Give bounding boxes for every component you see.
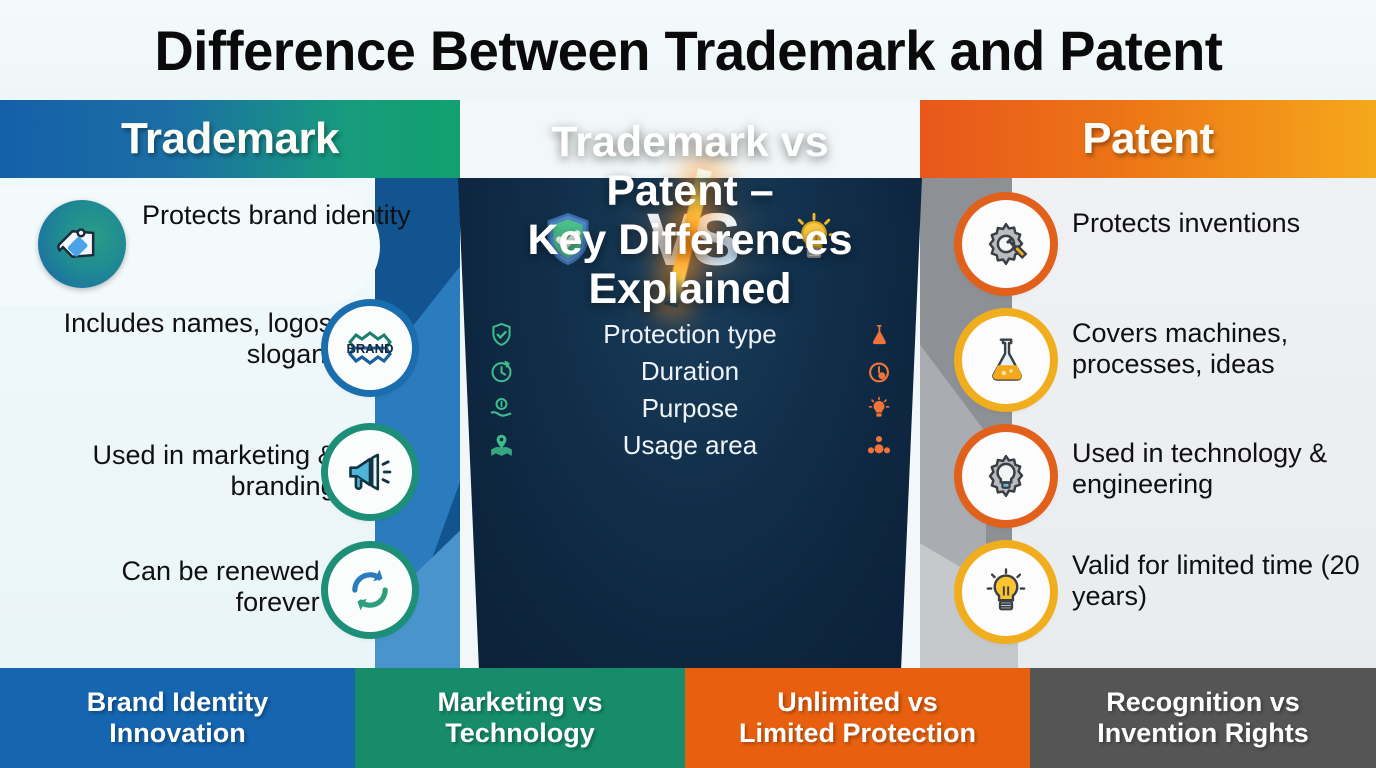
refresh-cycle-icon — [328, 548, 412, 632]
trademark-item-3-label: Used in marketing & branding — [34, 440, 336, 503]
trademark-item-4-label: Can be renewed forever — [34, 556, 320, 619]
center-title-line-3: Key Differences — [470, 216, 910, 265]
trademark-item-2-label: Includes names, logos, slogans — [34, 308, 340, 371]
patent-item-3-label: Used in technology & engineering — [1072, 438, 1372, 501]
gear-bulb-icon — [962, 432, 1050, 520]
brand-badge-icon: BRAND — [328, 306, 412, 390]
stopwatch-icon — [852, 359, 906, 385]
patent-item-4: Valid for limited time (20 years) — [1072, 550, 1372, 613]
footer-cell-brand-identity: Brand Identity Innovation — [0, 668, 355, 768]
patent-item-4-label: Valid for limited time (20 years) — [1072, 550, 1372, 613]
bulb-idea-icon — [852, 396, 906, 422]
gear-wrench-icon — [962, 200, 1050, 288]
hand-idea-icon — [474, 395, 528, 422]
footer-cell-1-line-1: Brand Identity — [87, 687, 269, 718]
patent-item-3: Used in technology & engineering — [1072, 438, 1372, 501]
trademark-item-1-label: Protects brand identity — [142, 200, 411, 231]
center-title-line-1: Trademark vs — [470, 118, 910, 167]
footer-cell-3-line-2: Limited Protection — [739, 718, 976, 749]
criteria-label-1: Protection type — [528, 319, 852, 350]
map-pin-icon — [474, 432, 528, 459]
trademark-panel: Protects brand identity Includes names, … — [0, 178, 460, 668]
column-header-trademark: Trademark — [0, 100, 460, 178]
criteria-label-2: Duration — [528, 356, 852, 387]
title-bar: Difference Between Trademark and Patent — [0, 0, 1376, 100]
criteria-row-protection-type: Protection type — [474, 316, 906, 353]
team-network-icon — [852, 433, 906, 459]
footer-cell-3-line-1: Unlimited vs — [739, 687, 976, 718]
footer-cell-2-line-2: Technology — [437, 718, 602, 749]
center-title-line-2: Patent – — [470, 167, 910, 216]
flask-icon — [852, 322, 906, 348]
footer-cell-4-line-1: Recognition vs — [1097, 687, 1309, 718]
column-header-patent: Patent — [920, 100, 1376, 178]
footer-cell-1-line-2: Innovation — [87, 718, 269, 749]
criteria-row-duration: Duration — [474, 353, 906, 390]
clock-icon — [474, 358, 528, 385]
criteria-row-purpose: Purpose — [474, 390, 906, 427]
shield-check-icon — [474, 321, 528, 348]
megaphone-icon — [328, 430, 412, 514]
svg-text:BRAND: BRAND — [347, 341, 394, 356]
footer-cell-recognition-invention: Recognition vs Invention Rights — [1030, 668, 1376, 768]
footer-cell-marketing-technology: Marketing vs Technology — [355, 668, 685, 768]
patent-item-1: Protects inventions — [1072, 208, 1362, 239]
footer-bar: Brand Identity Innovation Marketing vs T… — [0, 668, 1376, 768]
comparison-criteria-list: Protection type Duration Purpose Usage a… — [474, 316, 906, 464]
criteria-row-usage-area: Usage area — [474, 427, 906, 464]
lightbulb-icon — [962, 548, 1050, 636]
page-title: Difference Between Trademark and Patent — [154, 18, 1222, 83]
footer-cell-2-line-1: Marketing vs — [437, 687, 602, 718]
footer-cell-4-line-2: Invention Rights — [1097, 718, 1309, 749]
patent-heading-label: Patent — [1082, 114, 1213, 164]
patent-item-1-label: Protects inventions — [1072, 208, 1300, 239]
criteria-label-3: Purpose — [528, 393, 852, 424]
center-title: Trademark vs Patent – Key Differences Ex… — [470, 118, 910, 314]
patent-item-2: Covers machines, processes, ideas — [1072, 318, 1372, 381]
patent-item-2-label: Covers machines, processes, ideas — [1072, 318, 1372, 381]
footer-cell-unlimited-limited: Unlimited vs Limited Protection — [685, 668, 1030, 768]
price-tag-icon — [38, 200, 126, 288]
trademark-heading-label: Trademark — [121, 114, 339, 164]
criteria-label-4: Usage area — [528, 430, 852, 461]
center-title-line-4: Explained — [470, 265, 910, 314]
flask-icon — [962, 316, 1050, 404]
patent-panel: Protects inventions Covers machines, pro… — [920, 178, 1376, 668]
